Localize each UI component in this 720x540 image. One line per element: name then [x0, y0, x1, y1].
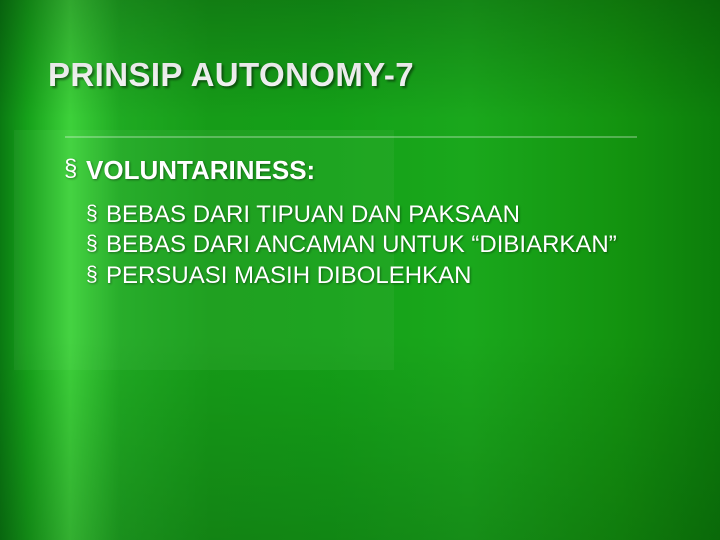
sub-bullet-icon: §: [86, 262, 106, 288]
sub-bullet-icon: §: [86, 231, 106, 257]
bullet-item-voluntariness: § VOLUNTARINESS:: [64, 155, 694, 186]
section-bullet-icon: §: [64, 155, 86, 184]
sub-bullet-label: BEBAS DARI ANCAMAN UNTUK “DIBIARKAN”: [106, 230, 694, 259]
sub-bullet-list: § BEBAS DARI TIPUAN DAN PAKSAAN § BEBAS …: [86, 200, 694, 290]
sub-bullet-label: PERSUASI MASIH DIBOLEHKAN: [106, 261, 694, 290]
sub-bullet-icon: §: [86, 201, 106, 227]
sub-bullet-item: § BEBAS DARI ANCAMAN UNTUK “DIBIARKAN”: [86, 230, 694, 259]
sub-bullet-item: § BEBAS DARI TIPUAN DAN PAKSAAN: [86, 200, 694, 229]
slide-body: § VOLUNTARINESS: § BEBAS DARI TIPUAN DAN…: [64, 155, 694, 291]
sub-bullet-label: BEBAS DARI TIPUAN DAN PAKSAAN: [106, 200, 694, 229]
bullet-item-label: VOLUNTARINESS:: [86, 155, 315, 186]
title-divider: [65, 136, 637, 138]
page-title: PRINSIP AUTONOMY-7: [48, 56, 688, 94]
slide: PRINSIP AUTONOMY-7 § VOLUNTARINESS: § BE…: [0, 0, 720, 540]
sub-bullet-item: § PERSUASI MASIH DIBOLEHKAN: [86, 261, 694, 290]
